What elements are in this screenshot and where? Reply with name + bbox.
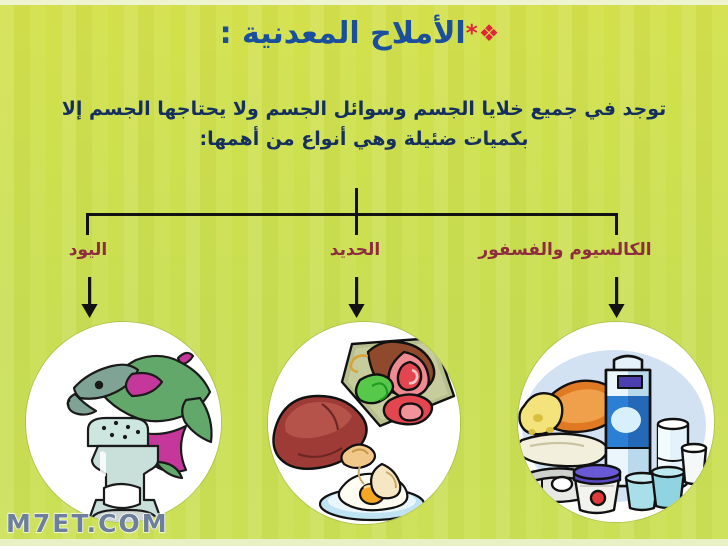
connector-drop-middle [355, 213, 358, 235]
yogurt-cup-large [574, 465, 620, 513]
small-cup [682, 444, 706, 484]
connector-horizontal-bar [86, 213, 618, 216]
top-border-strip [0, 0, 728, 5]
bottom-border-strip [0, 539, 728, 546]
connector-drop-right [615, 213, 618, 235]
title-ornament-icon: ❖* [466, 21, 501, 47]
down-arrow-icon-calcium-phosphorus [604, 277, 628, 319]
down-arrow-icon-iodine [77, 277, 101, 319]
page-title: ❖*الأملاح المعدنية : [0, 16, 728, 51]
liver-meat-and-egg-illustration [268, 322, 460, 524]
image-iodine-sources [26, 322, 221, 522]
down-arrow-icon-iron [344, 277, 368, 319]
image-calcium-phosphorus-sources [518, 322, 714, 522]
branch-label-iodine: اليود [18, 240, 158, 260]
branch-label-calcium-phosphorus: الكالسيوم والفسفور [440, 240, 690, 260]
dairy-products-illustration [518, 322, 714, 522]
branch-label-iron: الحديد [285, 240, 425, 260]
connector-drop-left [86, 213, 89, 235]
title-text: الأملاح المعدنية : [220, 16, 466, 51]
image-iron-sources [268, 322, 460, 524]
watermark-text: M7ET.COM [6, 509, 169, 538]
yogurt-cups-small [626, 467, 684, 510]
connector-stem [355, 188, 358, 215]
fish-and-salt-shaker-illustration [26, 322, 221, 522]
body-paragraph: توجد في جميع خلايا الجسم وسوائل الجسم ول… [34, 94, 694, 154]
slide-canvas: ❖*الأملاح المعدنية : توجد في جميع خلايا … [0, 0, 728, 546]
